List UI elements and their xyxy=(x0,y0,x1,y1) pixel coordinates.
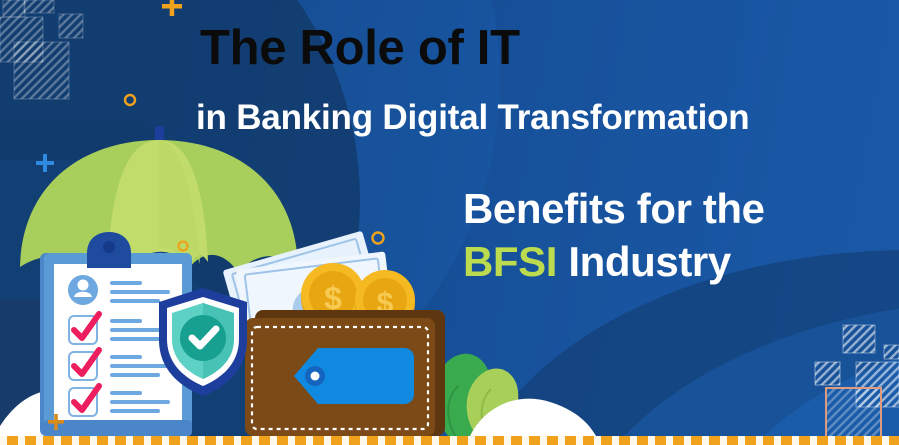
headline-line-4-rest: Industry xyxy=(557,238,731,285)
leaves xyxy=(433,354,518,440)
bottom-accent-dashes xyxy=(0,436,899,445)
headline-line-4: BFSI Industry xyxy=(463,241,731,283)
wallet-icon xyxy=(245,310,445,436)
headline-line-2: in Banking Digital Transformation xyxy=(196,100,749,135)
headline-line-3: Benefits for the xyxy=(463,188,765,230)
headline-line-1: The Role of IT xyxy=(200,24,520,73)
headline-highlight-bfsi: BFSI xyxy=(463,238,557,285)
avatar xyxy=(68,275,98,305)
banner-image: $ $ xyxy=(0,0,899,445)
price-tag-icon xyxy=(294,348,414,404)
